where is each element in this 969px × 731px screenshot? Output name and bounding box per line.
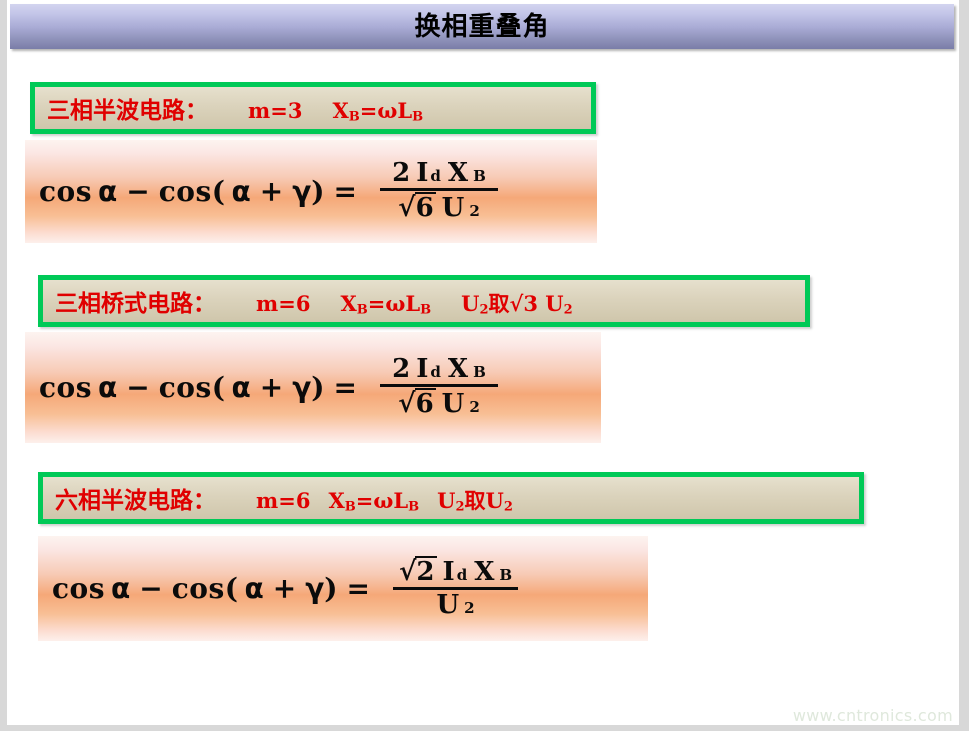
circuit-type-label: 三相半波电路： (47, 91, 208, 125)
pulse-count-value: m=6 (256, 291, 310, 316)
reactance-symbol: X (340, 291, 356, 316)
minus-operator: − (126, 175, 149, 208)
fraction-numerator: √2IdXB (393, 556, 518, 588)
cos-function-1: cos (39, 175, 92, 208)
cos-function-1: cos (52, 572, 105, 605)
formula-expression: cos α − cos( α + γ ) = 2IdXB √6U2 (25, 160, 498, 224)
reactance-equation-rest: =ωL (356, 488, 408, 513)
sqrt-icon: √ (398, 390, 415, 419)
close-paren: ) (324, 572, 337, 605)
secondary-voltage-subscript: 2 (469, 399, 480, 415)
numerator-reactance-subscript: B (473, 168, 486, 184)
commutation-reactance-expression: XB=ωLB (328, 488, 419, 514)
reactance-symbol: X (328, 488, 344, 513)
inductance-subscript: B (420, 302, 431, 317)
numerator-reactance-subscript: B (473, 364, 486, 380)
formula-box-three-phase-half-wave: cos α − cos( α + γ ) = 2IdXB √6U2 (25, 140, 597, 243)
minus-operator: − (126, 371, 149, 404)
secondary-voltage-symbol: U (442, 194, 465, 222)
section-header-three-phase-bridge[interactable]: 三相桥式电路： m=6 XB=ωLB U2取√3 U2 (38, 275, 810, 327)
secondary-voltage-symbol: U (442, 390, 465, 418)
fraction: 2IdXB √6U2 (380, 355, 498, 419)
pulse-count-value: m=6 (256, 488, 310, 513)
radicand-value: 2 (415, 556, 436, 586)
slide-title-bar: 换相重叠角 (10, 4, 954, 49)
fraction: √2IdXB U2 (393, 556, 518, 620)
minus-operator: − (139, 572, 162, 605)
equals-operator: = (347, 572, 370, 605)
section-header-content: 三相半波电路： m=3 XB=ωLB (35, 91, 423, 125)
bottom-margin-strip (7, 725, 959, 731)
note-take-text: 取√3 U (489, 291, 564, 316)
radicand-value: 6 (415, 192, 436, 222)
formula-expression: cos α − cos( α + γ ) = 2IdXB √6U2 (25, 356, 498, 420)
note-take-subscript: 2 (564, 302, 573, 317)
section-header-content: 三相桥式电路： m=6 XB=ωLB U2取√3 U2 (43, 284, 573, 318)
fraction-numerator: 2IdXB (386, 355, 492, 384)
numerator-reactance-symbol: X (448, 355, 468, 383)
note-take-text: 取U (465, 488, 504, 513)
reactance-subscript: B (349, 109, 360, 124)
alpha-symbol-2: α (231, 371, 250, 404)
plus-operator: + (273, 572, 296, 605)
alpha-symbol-1: α (111, 572, 130, 605)
gamma-symbol: γ (292, 175, 311, 208)
reactance-symbol: X (332, 98, 348, 123)
fraction-denominator: U2 (430, 590, 480, 619)
fraction-numerator: 2IdXB (386, 159, 492, 188)
section-header-three-phase-half-wave[interactable]: 三相半波电路： m=3 XB=ωLB (30, 82, 596, 134)
sqrt-icon: √ (398, 194, 415, 223)
page-title: 换相重叠角 (414, 14, 549, 40)
equals-operator: = (334, 175, 357, 208)
alpha-symbol-1: α (98, 175, 117, 208)
voltage-substitution-note: U2取√3 U2 (461, 288, 573, 318)
numerator-coefficient: 2 (392, 355, 410, 383)
reactance-subscript: B (357, 302, 368, 317)
formula-box-three-phase-bridge: cos α − cos( α + γ ) = 2IdXB √6U2 (25, 332, 601, 443)
numerator-coefficient: 2 (392, 159, 410, 187)
note-take-subscript: 2 (504, 499, 513, 514)
inductance-subscript: B (408, 499, 419, 514)
voltage-substitution-note: U2取U2 (437, 485, 513, 515)
radicand-value: 6 (415, 388, 436, 418)
circuit-type-label: 六相半波电路： (55, 481, 216, 515)
dc-current-symbol: I (416, 355, 428, 383)
cos-function-2: cos( (172, 572, 239, 605)
site-watermark: www.cntronics.com (793, 706, 953, 725)
note-voltage-symbol: U (437, 488, 455, 513)
pulse-count-value: m=3 (248, 98, 302, 123)
note-voltage-subscript: 2 (455, 499, 464, 514)
dc-current-subscript: d (430, 168, 441, 184)
cos-function-2: cos( (159, 371, 226, 404)
formula-expression: cos α − cos( α + γ ) = √2IdXB U2 (38, 557, 518, 621)
dc-current-subscript: d (430, 364, 441, 380)
fraction-denominator: √6U2 (392, 387, 486, 419)
sqrt-icon: √ (399, 558, 416, 587)
circuit-type-label: 三相桥式电路： (55, 284, 216, 318)
dc-current-subscript: d (457, 567, 468, 583)
numerator-reactance-subscript: B (499, 567, 512, 583)
section-header-content: 六相半波电路： m=6 XB=ωLB U2取U2 (43, 481, 513, 515)
secondary-voltage-subscript: 2 (464, 600, 475, 616)
commutation-reactance-expression: XB=ωLB (340, 291, 431, 317)
gamma-symbol: γ (305, 572, 324, 605)
numerator-reactance-symbol: X (448, 159, 468, 187)
slide-canvas: 换相重叠角 三相半波电路： m=3 XB=ωLB cos α − cos( α … (0, 0, 969, 731)
commutation-reactance-expression: XB=ωLB (332, 98, 423, 124)
alpha-symbol-2: α (244, 572, 263, 605)
reactance-equation-rest: =ωL (368, 291, 420, 316)
note-voltage-symbol: U (461, 291, 479, 316)
formula-box-six-phase-half-wave: cos α − cos( α + γ ) = √2IdXB U2 (38, 536, 648, 641)
secondary-voltage-symbol: U (436, 591, 459, 619)
gamma-symbol: γ (292, 371, 311, 404)
plus-operator: + (260, 371, 283, 404)
reactance-subscript: B (345, 499, 356, 514)
equals-operator: = (334, 371, 357, 404)
fraction: 2IdXB √6U2 (380, 159, 498, 223)
numerator-reactance-symbol: X (474, 558, 494, 586)
section-header-six-phase-half-wave[interactable]: 六相半波电路： m=6 XB=ωLB U2取U2 (38, 472, 864, 524)
alpha-symbol-2: α (231, 175, 250, 208)
reactance-equation-rest: =ωL (360, 98, 412, 123)
secondary-voltage-subscript: 2 (469, 203, 480, 219)
close-paren: ) (311, 175, 324, 208)
cos-function-1: cos (39, 371, 92, 404)
plus-operator: + (260, 175, 283, 208)
note-voltage-subscript: 2 (479, 302, 488, 317)
alpha-symbol-1: α (98, 371, 117, 404)
cos-function-2: cos( (159, 175, 226, 208)
inductance-subscript: B (412, 109, 423, 124)
close-paren: ) (311, 371, 324, 404)
fraction-denominator: √6U2 (392, 191, 486, 223)
dc-current-symbol: I (416, 159, 428, 187)
dc-current-symbol: I (443, 558, 455, 586)
